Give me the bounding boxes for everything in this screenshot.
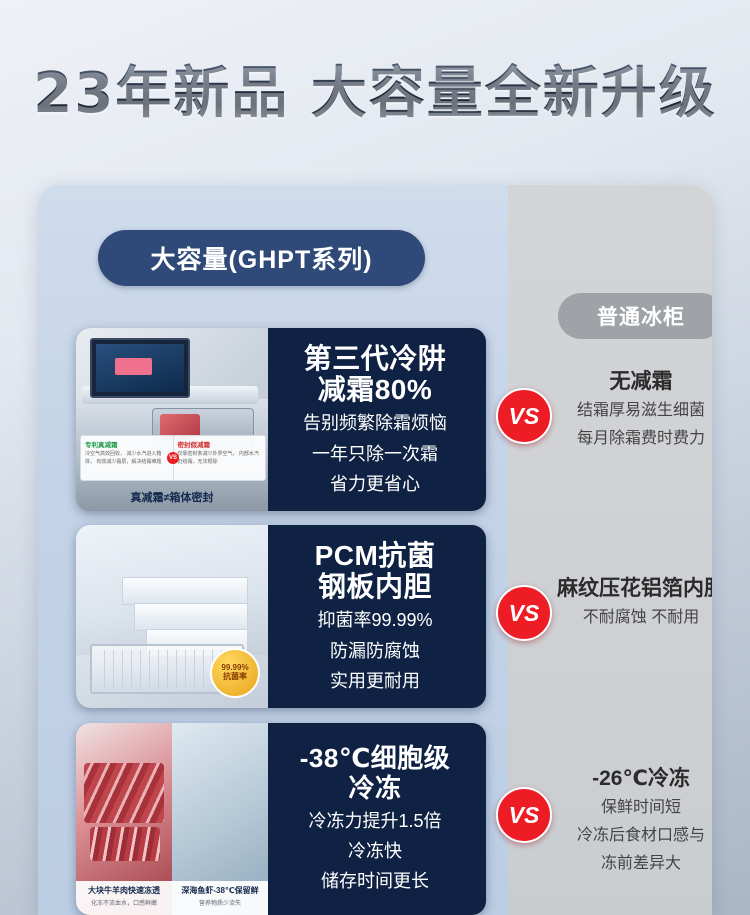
control-screen-icon xyxy=(90,338,190,398)
feature-row-2: 99.99% 抗菌率 PCM抗菌 钢板内胆 抑菌率99.99% 防漏防腐蚀 实用… xyxy=(38,525,712,708)
caption-left: 大块牛羊肉快速冻透 化冻不流血水，口感鲜嫩 xyxy=(76,881,172,915)
liner-step-1 xyxy=(122,577,248,605)
feature-card-1-text: 第三代冷阱 减霜80% 告别频繁除霜烦恼 一年只除一次霜 省力更省心 xyxy=(268,328,486,511)
vs-badge-2: VS xyxy=(496,585,552,641)
feature-card-1: 专利真减霜 冷空气高效回收， 减少水汽进入箱体， 有效减少霜层，解决结霜难题 密… xyxy=(76,328,486,511)
ordinary-2-title: 麻纹压花铝箔内胆 xyxy=(548,575,712,602)
feature-card-3-text: -38℃细胞级 冷冻 冷冻力提升1.5倍 冷冻快 储存时间更长 xyxy=(268,723,486,915)
badge-label: 抗菌率 xyxy=(223,673,247,682)
feature-row-1: 专利真减霜 冷空气高效回收， 减少水汽进入箱体， 有效减少霜层，解决结霜难题 密… xyxy=(38,328,712,511)
defrost-compare-box: 专利真减霜 冷空气高效回收， 减少水汽进入箱体， 有效减少霜层，解决结霜难题 密… xyxy=(80,435,266,481)
page-root: 23年新品 大容量全新升级 大容量(GHPT系列) 普通冰柜 xyxy=(0,0,750,915)
feature-1-title-line2: 减霜80% xyxy=(318,374,433,405)
feature-3-title-line1: -38℃细胞级 xyxy=(300,744,451,773)
caption-right-line2: 营养物质少流失 xyxy=(172,898,268,907)
feature-1-title-line1: 第三代冷阱 xyxy=(304,343,447,374)
screen-highlight xyxy=(115,358,152,374)
ordinary-2-sub1: 不耐腐蚀 不耐用 xyxy=(548,606,712,630)
feature-3-title-line2: 冷冻 xyxy=(348,774,401,803)
compare-right-half: 密封假减霜 仅靠密封条减少外界空气， 内部水汽仍结霜，无法根除 xyxy=(173,436,266,480)
screen-inner xyxy=(96,344,184,392)
feature-card-2: 99.99% 抗菌率 PCM抗菌 钢板内胆 抑菌率99.99% 防漏防腐蚀 实用… xyxy=(76,525,486,708)
feature-2-title-line2: 钢板内胆 xyxy=(318,571,432,602)
feature-row-3: 大块牛羊肉快速冻透 化冻不流血水，口感鲜嫩 深海鱼虾-38℃保留鲜 营养物质少流… xyxy=(38,723,712,915)
feature-2-title-line1: PCM抗菌 xyxy=(315,540,436,571)
ordinary-3-sub1: 保鲜时间短 xyxy=(548,796,712,820)
defrost-illustration: 专利真减霜 冷空气高效回收， 减少水汽进入箱体， 有效减少霜层，解决结霜难题 密… xyxy=(76,328,268,511)
caption-left-line1: 大块牛羊肉快速冻透 xyxy=(76,885,172,896)
liner-step-2 xyxy=(134,603,248,631)
feature-1-sub-line2: 一年只除一次霜 xyxy=(312,442,438,466)
freezing-illustration: 大块牛羊肉快速冻透 化冻不流血水，口感鲜嫩 深海鱼虾-38℃保留鲜 营养物质少流… xyxy=(76,723,268,915)
compare-right-tag: 密封假减霜 xyxy=(178,439,262,449)
freezing-caption-bar: 大块牛羊肉快速冻透 化冻不流血水，口感鲜嫩 深海鱼虾-38℃保留鲜 营养物质少流… xyxy=(76,881,268,915)
ordinary-1-title: 无减霜 xyxy=(548,368,712,395)
caption-right: 深海鱼虾-38℃保留鲜 营养物质少流失 xyxy=(172,881,268,915)
ordinary-3-sub2: 冷冻后食材口感与 xyxy=(548,824,712,848)
feature-card-2-text: PCM抗菌 钢板内胆 抑菌率99.99% 防漏防腐蚀 实用更耐用 xyxy=(268,525,486,708)
ordinary-3-sub3: 冻前差异大 xyxy=(548,852,712,876)
ordinary-1-sub2: 每月除霜费时费力 xyxy=(548,427,712,451)
antibacterial-badge: 99.99% 抗菌率 xyxy=(210,648,260,698)
feature-3-sub-line3: 储存时间更长 xyxy=(321,869,429,893)
feature-3-sub-line1: 冷冻力提升1.5倍 xyxy=(308,809,441,833)
compare-left-text: 冷空气高效回收， 减少水汽进入箱体， 有效减少霜层，解决结霜难题 xyxy=(85,451,161,465)
left-header-pill: 大容量(GHPT系列) xyxy=(98,230,425,286)
compare-right-text: 仅靠密封条减少外界空气， 内部水汽仍结霜，无法根除 xyxy=(178,451,259,465)
feature-2-sub-line3: 实用更耐用 xyxy=(330,669,420,693)
ordinary-freezer-text-2: 麻纹压花铝箔内胆 不耐腐蚀 不耐用 xyxy=(548,575,712,630)
mini-vs-badge: VS xyxy=(167,452,179,464)
defrost-caption: 真减霜≠箱体密封 xyxy=(76,489,268,505)
ordinary-freezer-text-1: 无减霜 结霜厚易滋生细菌 每月除霜费时费力 xyxy=(548,368,712,451)
meat-slice-1 xyxy=(84,763,164,823)
compare-left-tag: 专利真减霜 xyxy=(85,439,169,449)
ordinary-3-title: -26℃冷冻 xyxy=(548,765,712,792)
feature-1-sub-line3: 省力更省心 xyxy=(330,472,420,496)
compare-left-half: 专利真减霜 冷空气高效回收， 减少水汽进入箱体， 有效减少霜层，解决结霜难题 xyxy=(81,436,173,480)
steel-liner-illustration: 99.99% 抗菌率 xyxy=(76,525,268,708)
vs-badge-1: VS xyxy=(496,388,552,444)
feature-2-sub-line1: 抑菌率99.99% xyxy=(317,608,432,632)
comparison-panel: 大容量(GHPT系列) 普通冰柜 专利真减霜 xyxy=(38,185,712,915)
caption-left-line2: 化冻不流血水，口感鲜嫩 xyxy=(76,898,172,907)
feature-card-3: 大块牛羊肉快速冻透 化冻不流血水，口感鲜嫩 深海鱼虾-38℃保留鲜 营养物质少流… xyxy=(76,723,486,915)
caption-right-line1: 深海鱼虾-38℃保留鲜 xyxy=(172,885,268,896)
page-header: 23年新品 大容量全新升级 xyxy=(0,48,750,129)
feature-3-sub-line2: 冷冻快 xyxy=(348,839,402,863)
page-title: 23年新品 大容量全新升级 xyxy=(0,48,750,129)
feature-2-sub-line2: 防漏防腐蚀 xyxy=(330,639,420,663)
vs-badge-3: VS xyxy=(496,787,552,843)
feature-1-sub-line1: 告别频繁除霜烦恼 xyxy=(303,411,447,435)
ordinary-freezer-text-3: -26℃冷冻 保鲜时间短 冷冻后食材口感与 冻前差异大 xyxy=(548,765,712,876)
meat-slice-2 xyxy=(90,827,160,861)
ordinary-1-sub1: 结霜厚易滋生细菌 xyxy=(548,399,712,423)
